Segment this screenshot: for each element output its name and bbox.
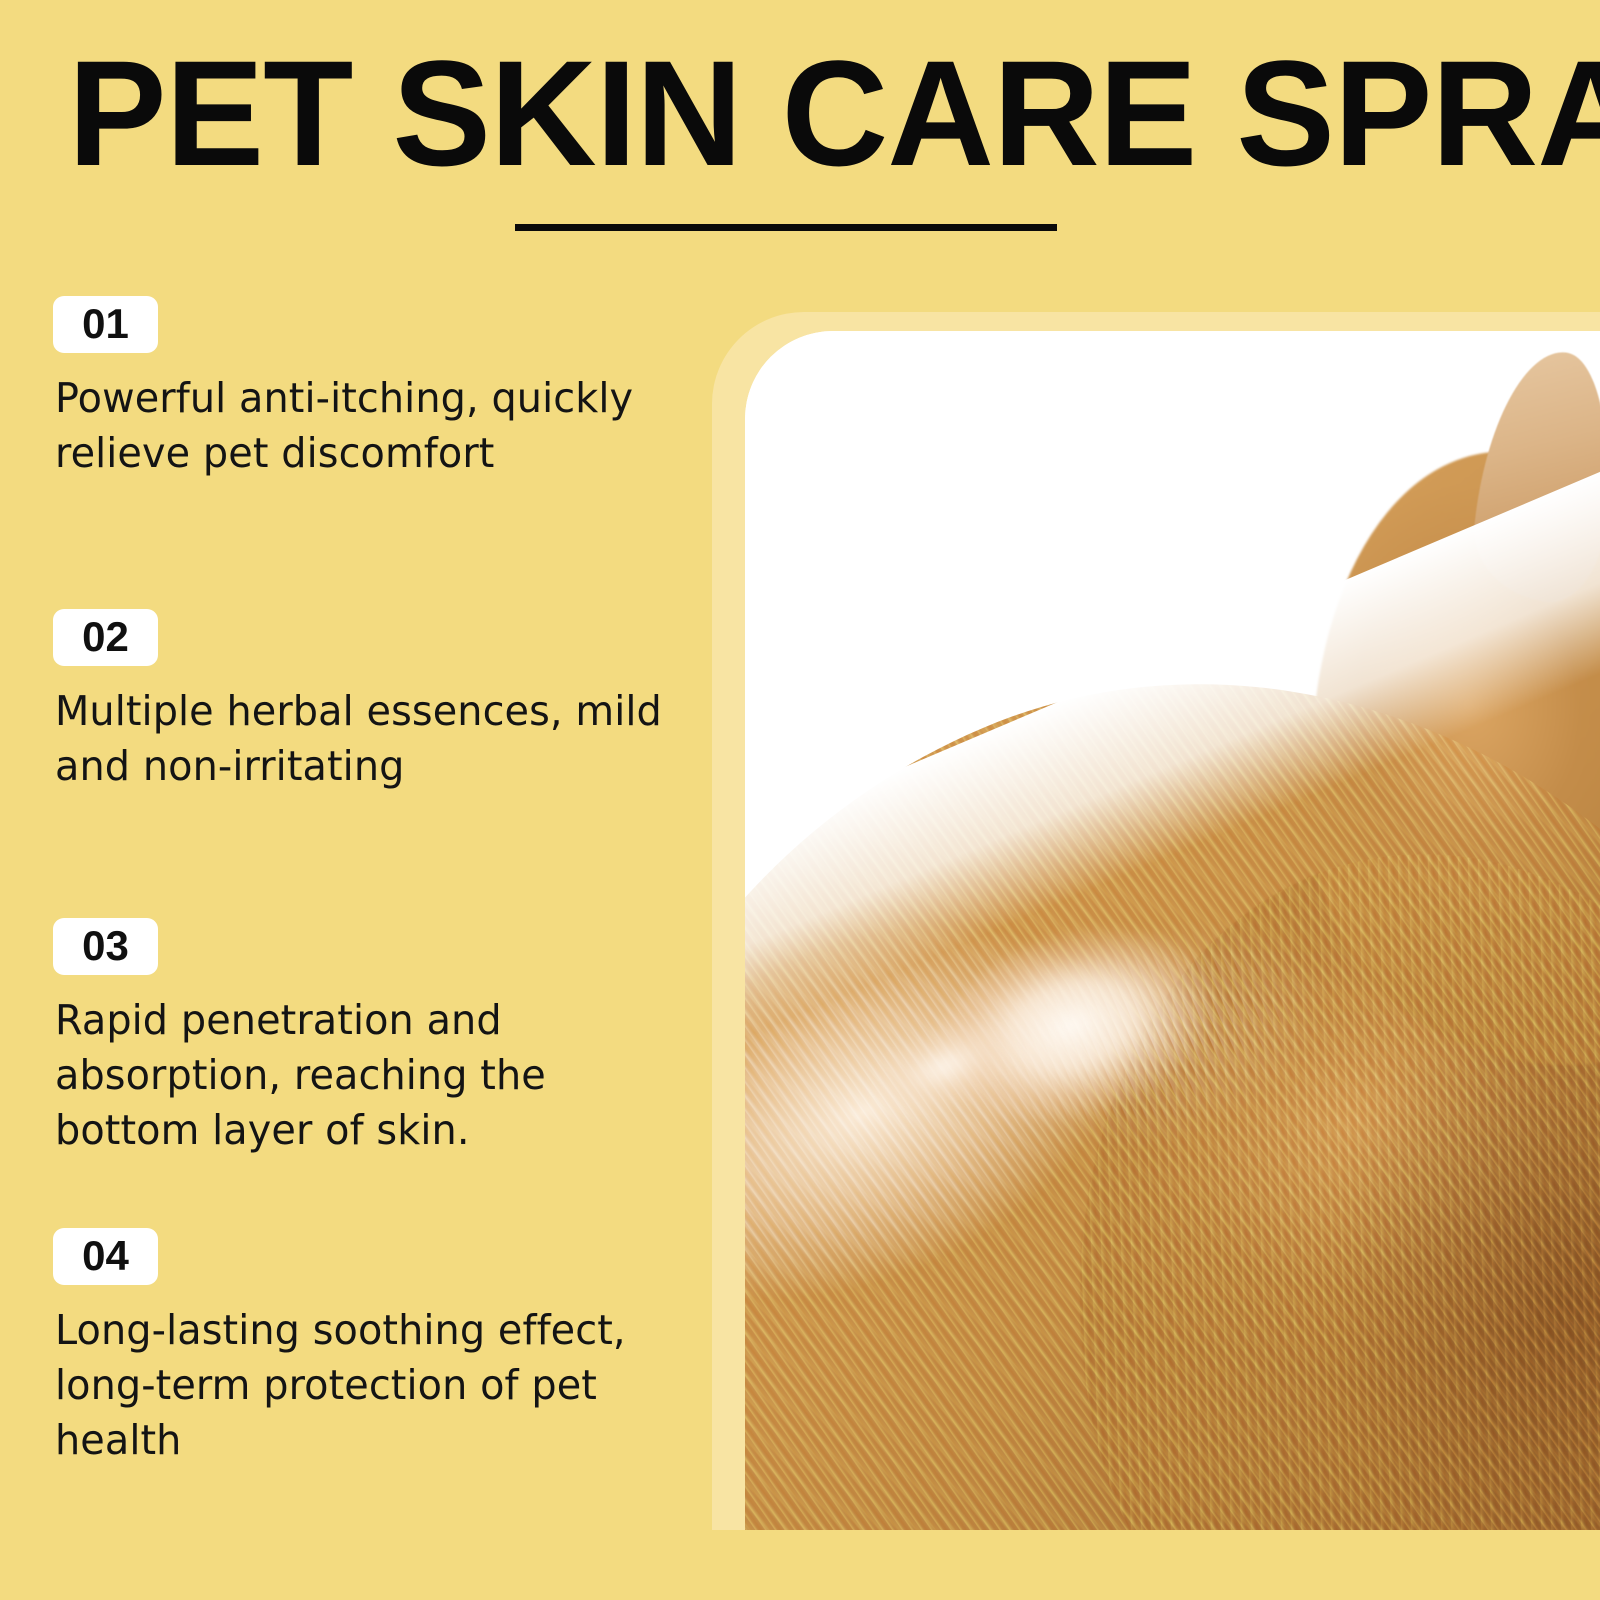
- feature-number-label: 03: [82, 925, 129, 967]
- page-title: PET SKIN CARE SPRAY: [68, 38, 1526, 188]
- pet-skin-care-spray-poster: PET SKIN CARE SPRAY 01 Powerful anti-itc…: [0, 0, 1600, 1600]
- title-block: PET SKIN CARE SPRAY: [0, 0, 1600, 260]
- cat-ear-shape: [1467, 345, 1600, 607]
- feature-number-label: 02: [82, 616, 129, 658]
- cat-photo: [745, 331, 1600, 1530]
- feature-description-01: Powerful anti-itching, quickly relieve p…: [55, 371, 686, 481]
- feature-item-03: 03 Rapid penetration and absorption, rea…: [0, 918, 712, 1158]
- feature-number-badge-01: 01: [53, 296, 158, 353]
- feature-number-label: 04: [82, 1235, 129, 1277]
- feature-item-04: 04 Long-lasting soothing effect, long-te…: [0, 1228, 712, 1468]
- feature-number-badge-04: 04: [53, 1228, 158, 1285]
- feature-number-badge-02: 02: [53, 609, 158, 666]
- feature-number-label: 01: [82, 303, 129, 345]
- title-underline-divider: [515, 224, 1057, 231]
- feature-description-04: Long-lasting soothing effect, long-term …: [55, 1303, 686, 1468]
- feature-description-02: Multiple herbal essences, mild and non-i…: [55, 684, 686, 794]
- feature-item-02: 02 Multiple herbal essences, mild and no…: [0, 609, 712, 794]
- product-image-panel-wrap: [712, 312, 1600, 1530]
- feature-description-03: Rapid penetration and absorption, reachi…: [55, 993, 686, 1158]
- feature-item-01: 01 Powerful anti-itching, quickly reliev…: [0, 296, 712, 481]
- feature-number-badge-03: 03: [53, 918, 158, 975]
- product-image-panel: [745, 331, 1600, 1530]
